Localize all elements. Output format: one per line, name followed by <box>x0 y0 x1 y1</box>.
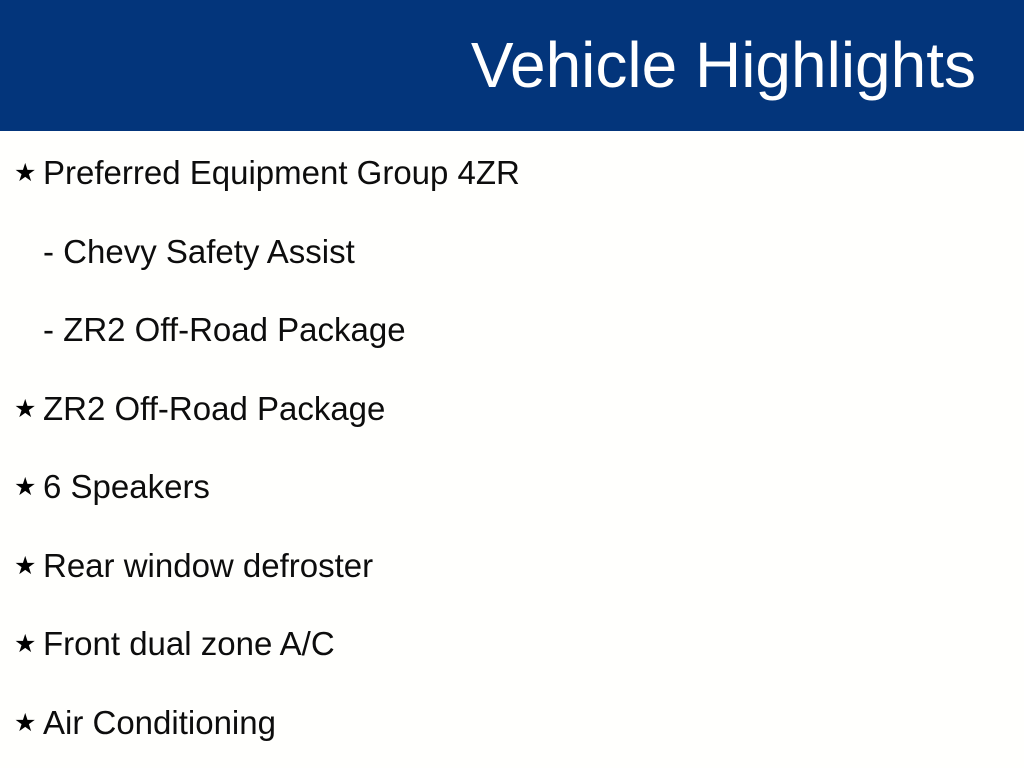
list-item: ★ Preferred Equipment Group 4ZR <box>0 153 1024 232</box>
list-item: ★ - ZR2 Off-Road Package <box>0 310 1024 389</box>
feature-label: - Chevy Safety Assist <box>43 232 355 272</box>
page-title: Vehicle Highlights <box>471 32 976 99</box>
vehicle-features-list: ★ Preferred Equipment Group 4ZR ★ - Chev… <box>0 131 1024 781</box>
vehicle-highlights-slide: Vehicle Highlights ★ Preferred Equipment… <box>0 0 1024 768</box>
feature-label: ZR2 Off-Road Package <box>43 389 385 429</box>
feature-label: Rear window defroster <box>43 546 373 586</box>
list-item: ★ 6 Speakers <box>0 467 1024 546</box>
title-banner: Vehicle Highlights <box>0 0 1024 131</box>
star-bullet-icon: ★ <box>14 467 43 507</box>
list-item: ★ - Chevy Safety Assist <box>0 232 1024 311</box>
list-item: ★ Front dual zone A/C <box>0 624 1024 703</box>
star-bullet-icon: ★ <box>14 624 43 664</box>
list-item: ★ Air Conditioning <box>0 703 1024 781</box>
feature-label: Air Conditioning <box>43 703 276 743</box>
feature-label: 6 Speakers <box>43 467 210 507</box>
star-bullet-icon: ★ <box>14 546 43 586</box>
star-bullet-icon: ★ <box>14 703 43 743</box>
list-item: ★ Rear window defroster <box>0 546 1024 625</box>
list-item: ★ ZR2 Off-Road Package <box>0 389 1024 468</box>
star-bullet-icon: ★ <box>14 153 43 193</box>
star-bullet-icon: ★ <box>14 389 43 429</box>
feature-label: - ZR2 Off-Road Package <box>43 310 406 350</box>
feature-label: Preferred Equipment Group 4ZR <box>43 153 520 193</box>
feature-label: Front dual zone A/C <box>43 624 335 664</box>
